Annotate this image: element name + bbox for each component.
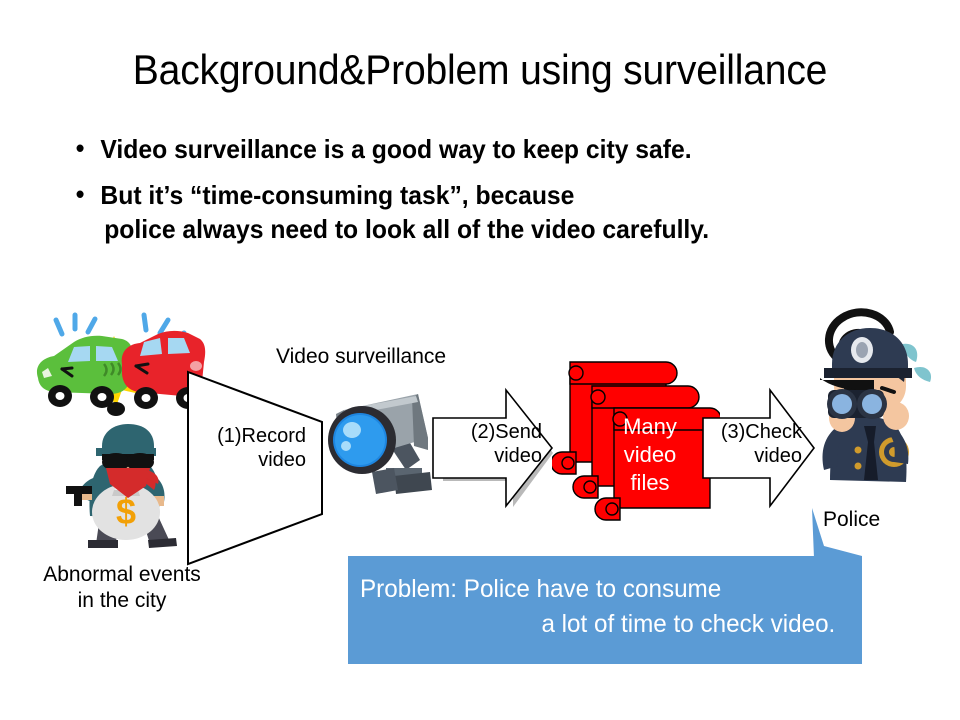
bullet-marker-2: • <box>76 178 85 212</box>
bullet-item-1: • Video surveillance is a good way to ke… <box>70 133 906 167</box>
slide-canvas: Background&Problem using surveillance • … <box>0 0 960 720</box>
bullet-text-2: But it’s “time-consuming task”, because <box>100 180 574 210</box>
bullet-text-1: Video surveillance is a good way to keep… <box>100 134 691 164</box>
bullet-item-2: • But it’s “time-consuming task”, becaus… <box>70 179 906 247</box>
svg-text:$: $ <box>116 491 136 532</box>
police-officer-icon <box>798 284 948 510</box>
page-title: Background&Problem using surveillance <box>34 46 927 94</box>
abnormal-events-label: Abnormal events in the city <box>16 562 228 615</box>
arrow-record-video-label: (1)Record video <box>194 424 306 473</box>
security-camera-icon <box>302 372 434 504</box>
bullet-marker-1: • <box>76 132 85 166</box>
bullet-text-2-line2: police always need to look all of the vi… <box>100 213 906 247</box>
arrow-send-video-label: (2)Send video <box>438 420 542 469</box>
car-crash-icon <box>18 306 208 431</box>
robber-icon: $ <box>58 420 193 550</box>
callout-line-1: Problem: Police have to consume <box>360 575 721 603</box>
arrow-check-video-label: (3)Check video <box>706 420 802 469</box>
problem-callout-text: Problem: Police have to consume a lot of… <box>360 572 841 642</box>
video-files-label: Many video files <box>604 413 696 497</box>
callout-line-2: a lot of time to check video. <box>360 607 841 642</box>
video-surveillance-label: Video surveillance <box>276 345 446 369</box>
bullet-list: • Video surveillance is a good way to ke… <box>70 133 950 258</box>
